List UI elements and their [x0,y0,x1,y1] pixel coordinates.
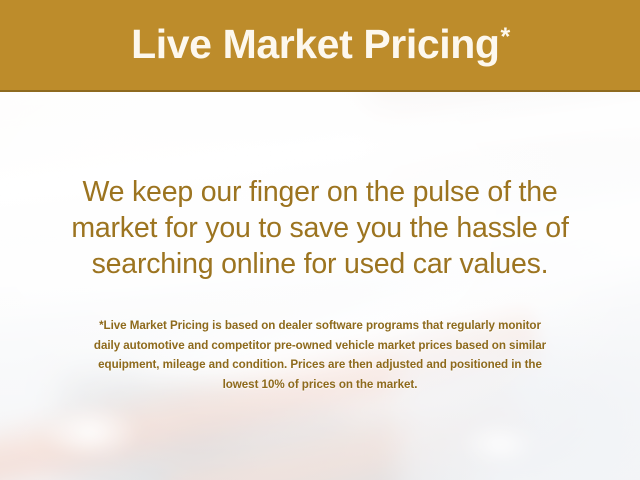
slide-content: We keep our finger on the pulse of the m… [0,92,640,480]
footnote-line: equipment, mileage and condition. Prices… [28,355,612,375]
headline-line: market for you to save you the hassle of [28,210,612,246]
headline-line: We keep our finger on the pulse of the [28,174,612,210]
footnote-line: *Live Market Pricing is based on dealer … [28,316,612,336]
page-title-text: Live Market Pricing [131,21,499,67]
header-band: Live Market Pricing* [0,0,640,92]
headline: We keep our finger on the pulse of the m… [28,174,612,282]
footnote-line: daily automotive and competitor pre-owne… [28,336,612,356]
footnote-disclaimer: *Live Market Pricing is based on dealer … [28,316,612,394]
footnote-line: lowest 10% of prices on the market. [28,375,612,395]
headline-line: searching online for used car values. [28,246,612,282]
page-title-asterisk: * [501,23,510,51]
page-title: Live Market Pricing* [131,24,509,65]
live-market-pricing-slide: Live Market Pricing* We keep our finger … [0,0,640,480]
